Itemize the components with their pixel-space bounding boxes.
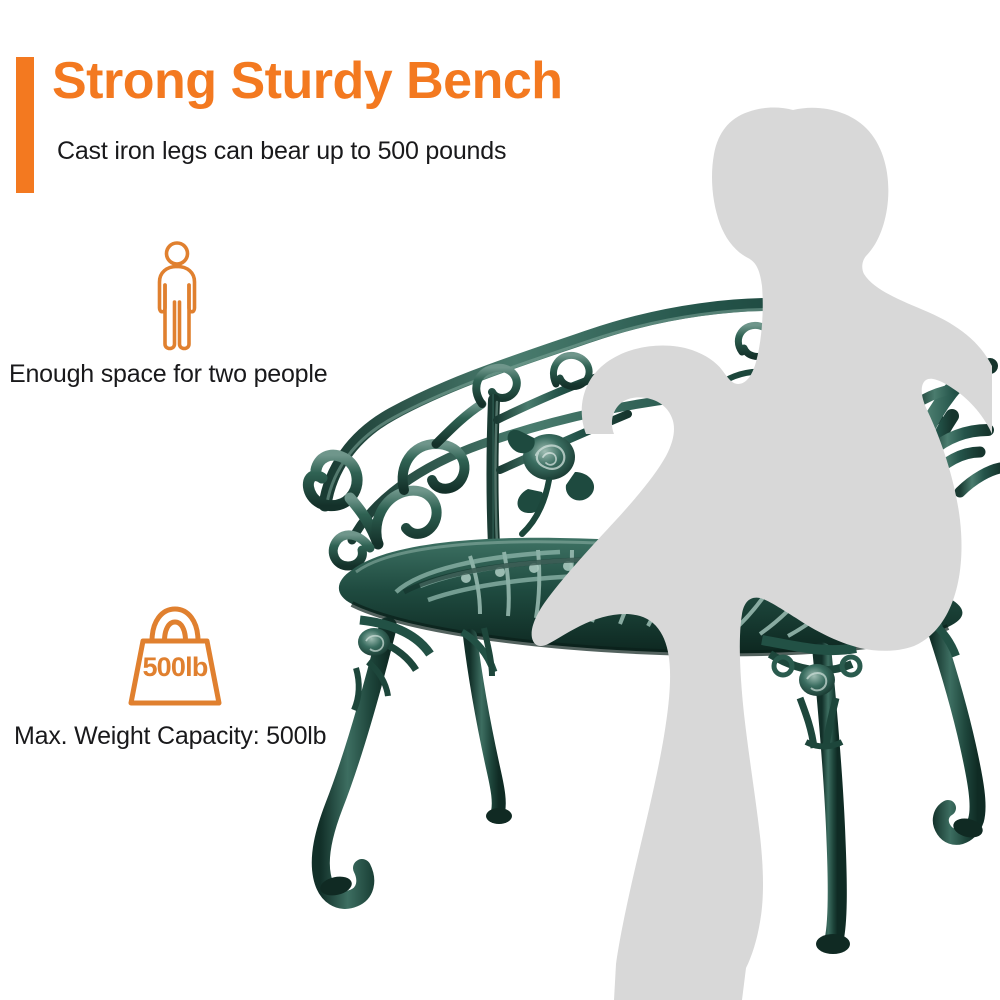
feature-label-capacity: Max. Weight Capacity: 500lb [14, 722, 326, 751]
accent-bar [16, 57, 34, 193]
page-subtitle: Cast iron legs can bear up to 500 pounds [57, 137, 506, 166]
weight-bag-icon [126, 603, 224, 709]
person-standing-icon [150, 240, 204, 356]
page-title: Strong Sturdy Bench [52, 52, 712, 110]
feature-label-space: Enough space for two people [9, 360, 327, 389]
product-feature-graphic: Strong Sturdy Bench Cast iron legs can b… [0, 0, 1000, 1000]
